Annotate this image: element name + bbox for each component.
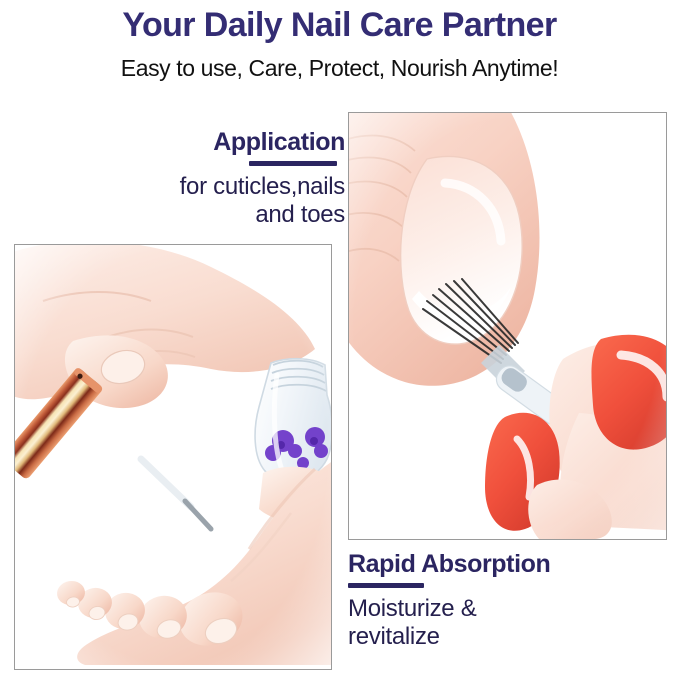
foot-application-illustration (15, 245, 331, 669)
feature-block-application: Application for cuticles,nails and toes (20, 128, 345, 230)
feature-title-application: Application (20, 128, 345, 156)
product-infographic: Your Daily Nail Care Partner Easy to use… (0, 0, 679, 679)
title-underline-application (249, 161, 337, 166)
product-photo-nail-application (348, 112, 667, 540)
feature-body-application: for cuticles,nails and toes (20, 173, 345, 230)
page-subtitle: Easy to use, Care, Protect, Nourish Anyt… (0, 55, 679, 83)
feature-block-absorption: Rapid Absorption Moisturize & revitalize (348, 550, 668, 652)
feature-body-absorption: Moisturize & revitalize (348, 595, 668, 652)
product-photo-foot-application (14, 244, 332, 670)
page-title: Your Daily Nail Care Partner (0, 6, 679, 45)
nail-application-illustration (349, 113, 666, 539)
title-underline-absorption (348, 583, 424, 588)
feature-title-absorption: Rapid Absorption (348, 550, 668, 578)
